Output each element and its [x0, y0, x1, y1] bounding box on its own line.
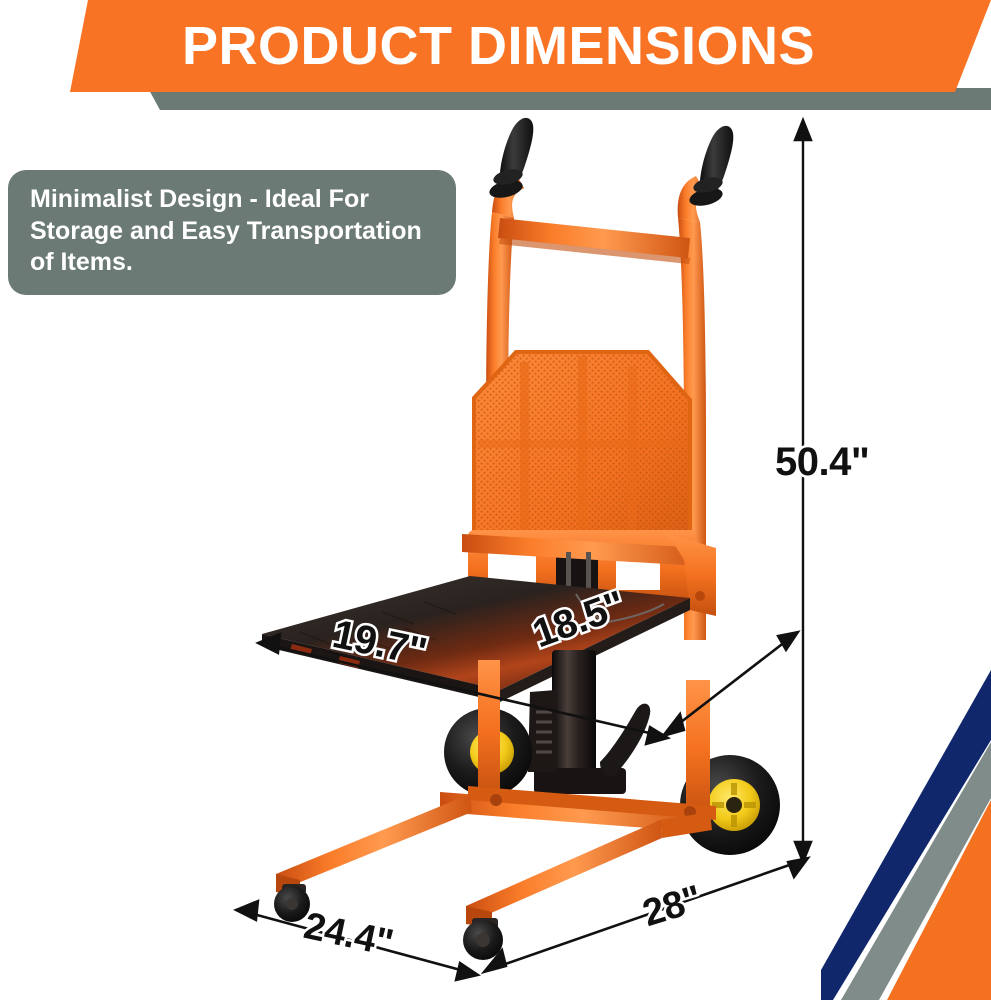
- dim-arrow-28-right: [788, 858, 808, 877]
- dim-arrow-244-right: [456, 963, 478, 980]
- corner-decoration: [821, 670, 991, 1000]
- dimension-label-height: 50.4": [775, 440, 869, 485]
- handle-grips: [488, 118, 734, 209]
- mesh-rib-2: [578, 356, 587, 546]
- mesh-back-panel: [474, 352, 690, 560]
- fork-leg-right: [466, 820, 662, 924]
- frame-upright-left: [478, 660, 500, 800]
- infographic-canvas: PRODUCT DIMENSIONS Minimalist Design - I…: [0, 0, 991, 1000]
- dim-arrow-height-top: [795, 120, 811, 140]
- mesh-rib-3: [628, 366, 637, 546]
- grip-left: [488, 118, 534, 201]
- dim-arrow-244-left: [236, 901, 258, 920]
- lift-platform: [262, 576, 690, 702]
- mesh-rib-1: [520, 362, 529, 542]
- mesh-rib-h: [478, 440, 686, 448]
- page-title: PRODUCT DIMENSIONS: [0, 0, 991, 92]
- foot-pedal: [600, 704, 650, 777]
- feature-callout-box: Minimalist Design - Ideal For Storage an…: [8, 170, 456, 295]
- fork-leg-left: [276, 794, 472, 892]
- dim-arrow-185-right: [778, 632, 798, 650]
- grip-right: [688, 126, 734, 209]
- dim-arrow-185-left: [663, 714, 684, 736]
